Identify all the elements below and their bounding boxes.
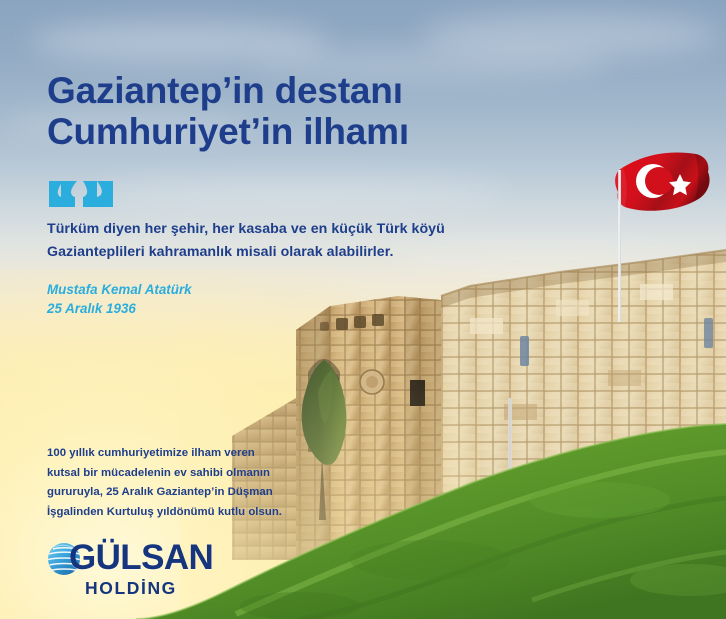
poster-canvas: Gaziantep’in destanı Cumhuriyet’in ilham…: [0, 0, 726, 619]
cloud: [30, 22, 330, 62]
headline-line-1: Gaziantep’in destanı: [47, 70, 403, 111]
page-title: Gaziantep’in destanı Cumhuriyet’in ilham…: [47, 70, 517, 153]
quote-line-1: Türküm diyen her şehir, her kasaba ve en…: [47, 218, 487, 241]
message-line-2: kutsal bir mücadelenin ev sahibi olmanın: [47, 464, 307, 484]
brand-logo: GÜLSAN HOLDİNG: [47, 540, 262, 598]
cypress-tree: [302, 360, 347, 520]
celebration-message: 100 yıllık cumhuriyetimize ilham veren k…: [47, 444, 307, 522]
logo-subtitle: HOLDİNG: [85, 578, 262, 598]
headline-line-2: Cumhuriyet’in ilhamı: [47, 111, 517, 152]
logo-wordmark: GÜLSAN: [69, 540, 213, 576]
quote-line-2: Gazianteplileri kahramanlık misali olara…: [47, 241, 487, 264]
message-line-1: 100 yıllık cumhuriyetimize ilham veren: [47, 444, 307, 464]
quote-date: 25 Aralık 1936: [47, 299, 517, 318]
cloud: [420, 12, 720, 58]
quote-author: Mustafa Kemal Atatürk: [47, 280, 517, 299]
message-line-3: gururuyla, 25 Aralık Gaziantep’in Düşman: [47, 483, 307, 503]
message-line-4: İşgalinden Kurtuluş yıldönümü kutlu olsu…: [47, 503, 307, 523]
turkish-flag: [608, 148, 720, 239]
text-content: Gaziantep’in destanı Cumhuriyet’in ilham…: [47, 70, 517, 318]
quote-mark-icon: [47, 179, 517, 209]
wall-mast: [508, 398, 512, 548]
castle-bastion-tower: [290, 290, 450, 570]
flag-cloth: [608, 148, 720, 234]
flag-pole: [618, 170, 621, 322]
quote-text: Türküm diyen her şehir, her kasaba ve en…: [47, 218, 487, 264]
quote-attribution: Mustafa Kemal Atatürk 25 Aralık 1936: [47, 280, 517, 318]
